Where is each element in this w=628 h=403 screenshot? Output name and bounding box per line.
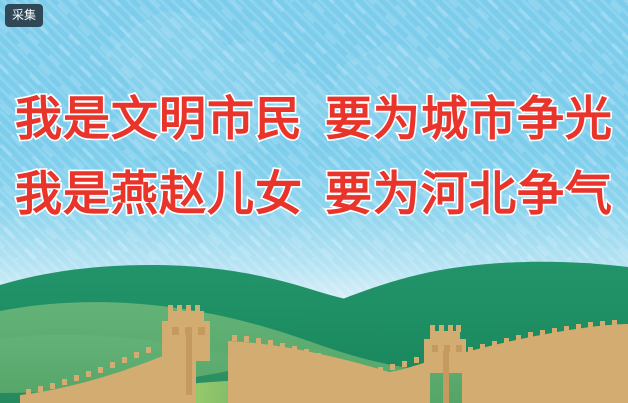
slogan-line-2: 我是燕赵儿女要为河北争气 [0,171,628,218]
slogan-line-1-left: 我是文明市民 [15,92,303,147]
slogan-line-1-right: 要为城市争光 [325,92,613,147]
slogan-line-1: 我是文明市民要为城市争光 [0,96,628,143]
banner-screen: 我是文明市民要为城市争光 我是燕赵儿女要为河北争气 采集 [0,0,628,403]
slogan-line-2-right: 要为河北争气 [325,167,613,222]
slogan-line-2-left: 我是燕赵儿女 [15,167,303,222]
slogan-block: 我是文明市民要为城市争光 我是燕赵儿女要为河北争气 [0,96,628,218]
landscape-illustration [0,243,628,403]
capture-button[interactable]: 采集 [5,4,43,27]
